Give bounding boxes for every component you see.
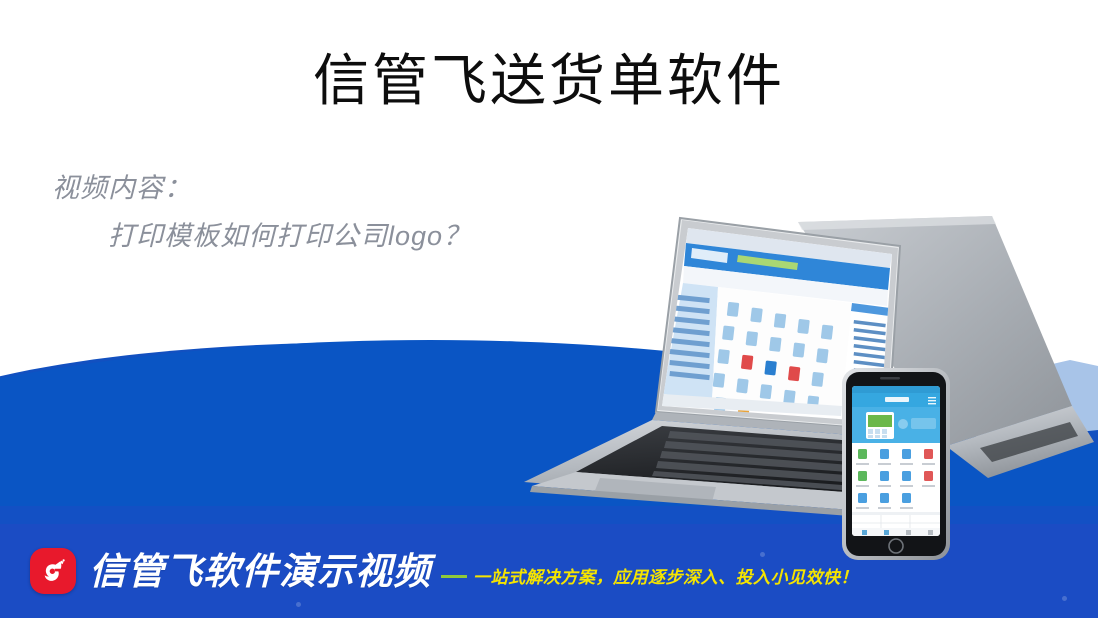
video-content-topic: 打印模板如何打印公司logo？ [52,212,471,260]
video-content-label: 视频内容： [52,164,471,212]
presentation-slide: 信管飞送货单软件 视频内容： 打印模板如何打印公司logo？ [0,0,1098,618]
slide-title: 信管飞送货单软件 [0,46,1098,118]
tagline-text: 一站式解决方案，应用逐步深入、投入小见效快！ [473,563,858,588]
tagline-separator [441,575,467,578]
brand-name-text: 信管飞软件演示视频 [89,553,431,590]
video-content-block: 视频内容： 打印模板如何打印公司logo？ [52,164,471,260]
xinguanfei-bird-logo-icon [30,548,76,594]
footer-brand-bar: 信管飞软件演示视频 一站式解决方案，应用逐步深入、投入小见效快！ [0,524,1098,618]
device-mockup-cluster [480,210,1098,570]
